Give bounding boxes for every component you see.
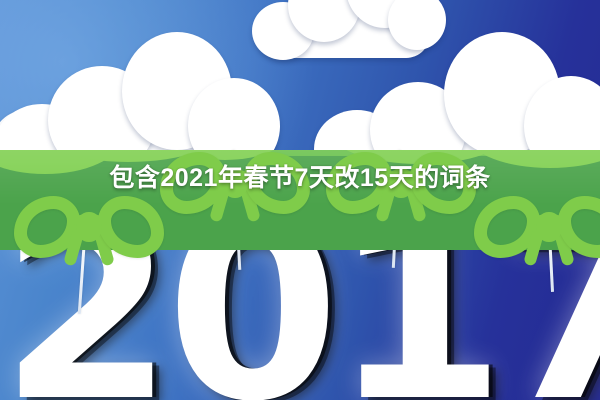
bow-knot <box>76 212 102 242</box>
poster-canvas: 2017 <box>0 0 600 400</box>
ribbon-bow-icon-4 <box>474 190 600 270</box>
bow-knot <box>536 212 562 242</box>
headline-title: 包含2021年春节7天改15天的词条 <box>40 158 560 198</box>
ribbon-bow-icon-1 <box>14 190 164 270</box>
